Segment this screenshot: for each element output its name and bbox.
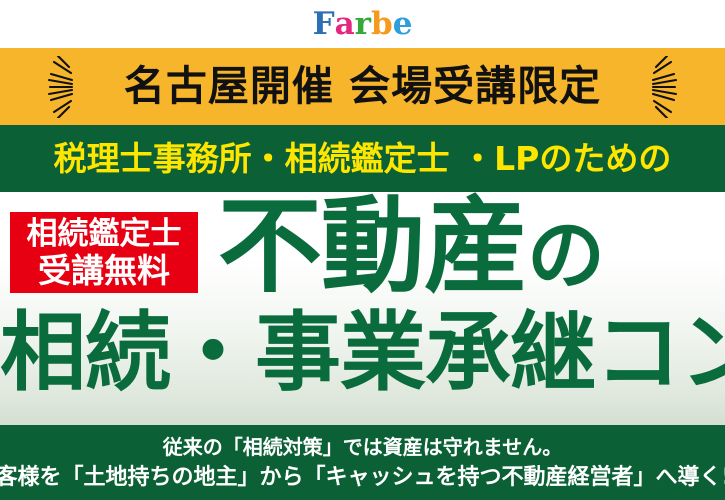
headline-line-2: 相続・事業承継コンサル xyxy=(0,310,725,396)
badge-line-2: 受講無料 xyxy=(38,254,170,287)
location-banner: 名古屋開催 会場受講限定 xyxy=(0,48,725,125)
headline-line-1-suffix: の xyxy=(527,211,604,301)
logo-letter-r: r xyxy=(355,9,371,40)
seminar-banner: Farbe 名古屋開催 会場受講限定 xyxy=(0,0,725,500)
logo-header: Farbe xyxy=(0,0,725,48)
farbe-logo: Farbe xyxy=(313,9,413,40)
footer-line-1: 従来の「相続対策」では資産は守れません。 xyxy=(163,436,562,459)
footer-tagline: 従来の「相続対策」では資産は守れません。 お客様を「土地持ちの地主」から「キャッ… xyxy=(0,425,725,500)
logo-letter-a: a xyxy=(335,9,355,40)
free-admission-badge: 相続鑑定士 受講無料 xyxy=(10,212,198,293)
audience-banner: 税理士事務所・相続鑑定士 ・LPのための xyxy=(0,125,725,192)
logo-letter-e: e xyxy=(393,9,413,40)
main-headline-area: 相続鑑定士 受講無料 不動産の 相続・事業承継コンサル xyxy=(0,192,725,425)
headline-line-1-main: 不動産 xyxy=(218,185,527,307)
headline-line-1: 不動産の xyxy=(218,194,604,298)
badge-line-1: 相続鑑定士 xyxy=(27,219,182,250)
footer-line-2: お客様を「土地持ちの地主」から「キャッシュを持つ不動産経営者」へ導く!!! xyxy=(0,465,725,490)
logo-letter-b: b xyxy=(371,9,393,40)
radiating-lines-right-icon xyxy=(651,56,697,118)
logo-letter-f: F xyxy=(313,9,335,40)
radiating-lines-left-icon xyxy=(28,56,74,118)
audience-banner-text: 税理士事務所・相続鑑定士 ・LPのための xyxy=(54,142,672,175)
location-banner-text: 名古屋開催 会場受講限定 xyxy=(124,66,601,107)
